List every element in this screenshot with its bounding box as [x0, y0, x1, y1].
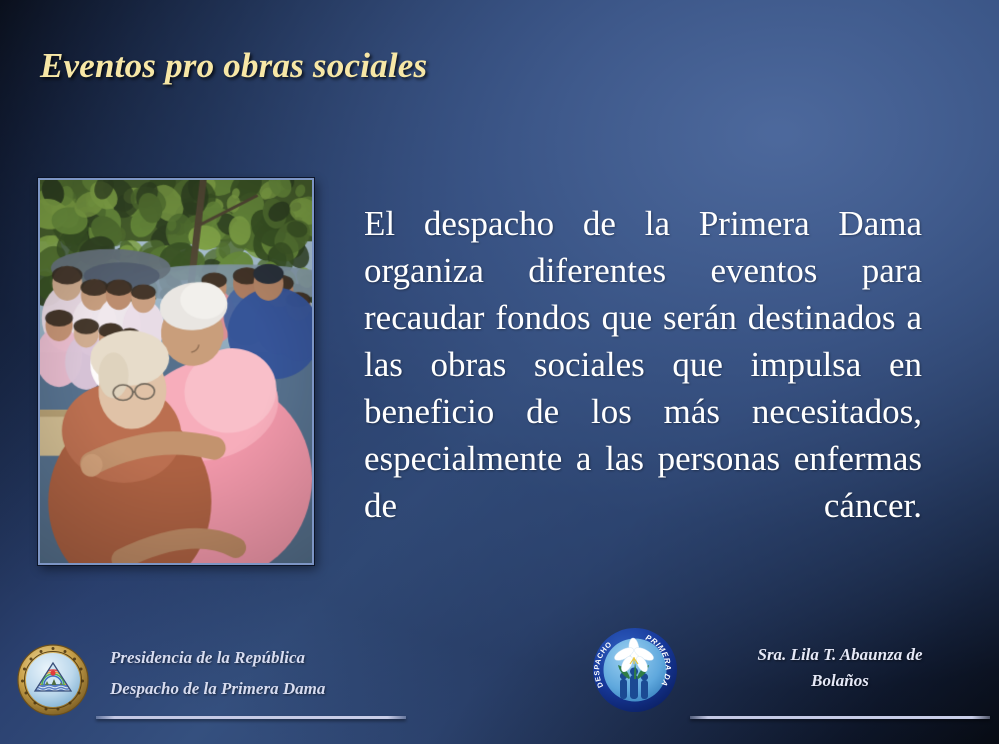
footer-line-presidencia: Presidencia de la República	[110, 642, 325, 673]
coat-of-arms-icon	[16, 643, 90, 717]
presentation-slide: Eventos pro obras sociales El despacho d…	[0, 0, 999, 744]
footer-divider-right	[690, 716, 990, 719]
first-lady-seal-icon: DESPACHO DE LA PRIMERA DAMA	[592, 627, 678, 713]
event-photo	[40, 180, 312, 563]
slide-body-text: El despacho de la Primera Dama organiza …	[364, 200, 922, 576]
photo-frame	[38, 178, 314, 565]
footer-left-text: Presidencia de la República Despacho de …	[110, 642, 325, 704]
footer-line-despacho: Despacho de la Primera Dama	[110, 673, 325, 704]
slide-title: Eventos pro obras sociales	[40, 46, 427, 86]
first-lady-name-line2: Bolaños	[700, 668, 980, 694]
first-lady-name-line1: Sra. Lila T. Abaunza de	[700, 642, 980, 668]
footer-divider-left	[96, 716, 406, 719]
footer-right-text: Sra. Lila T. Abaunza de Bolaños	[700, 642, 980, 694]
